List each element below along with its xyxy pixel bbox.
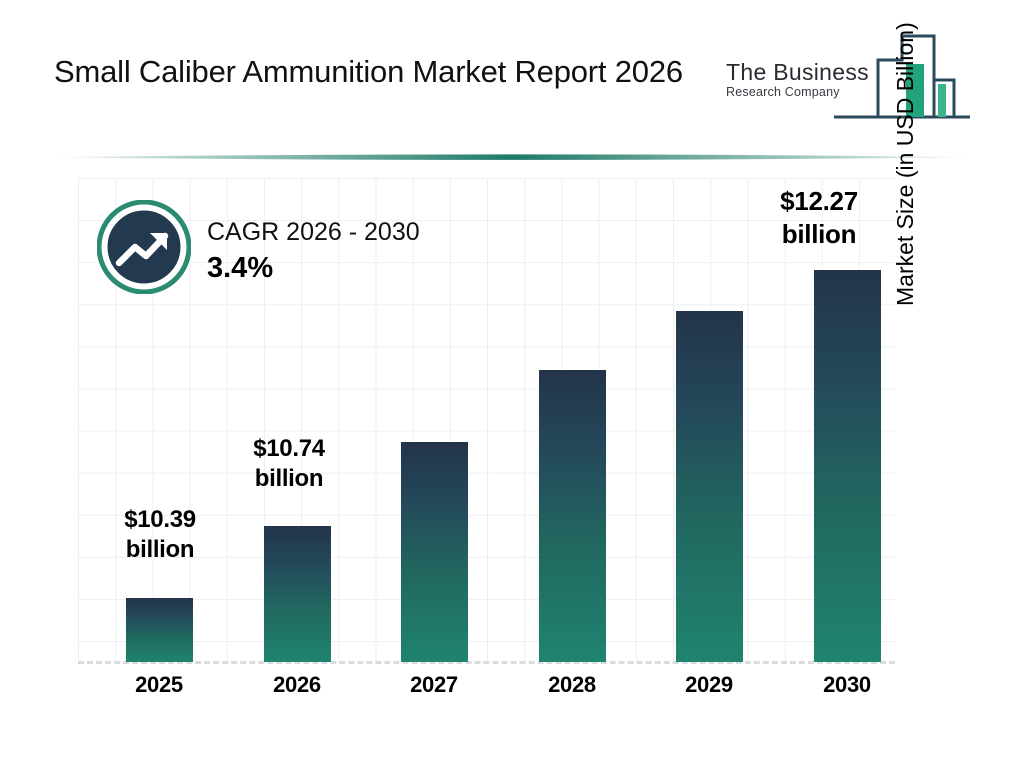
value-label-2030: $12.27 billion xyxy=(754,185,884,251)
x-tick-2030: 2030 xyxy=(787,672,907,698)
x-tick-2025: 2025 xyxy=(99,672,219,698)
cagr-badge: CAGR 2026 - 2030 3.4% xyxy=(97,200,497,305)
chart-page: Small Caliber Ammunition Market Report 2… xyxy=(0,0,1024,768)
x-tick-2029: 2029 xyxy=(649,672,769,698)
cagr-value: 3.4% xyxy=(207,248,420,288)
bar-2027[interactable] xyxy=(401,442,468,662)
value-label-2030-amount: $12.27 xyxy=(754,185,884,218)
header-divider xyxy=(44,150,980,164)
bar-2025[interactable] xyxy=(126,598,193,662)
x-tick-2028: 2028 xyxy=(512,672,632,698)
page-title: Small Caliber Ammunition Market Report 2… xyxy=(54,50,714,94)
x-tick-2027: 2027 xyxy=(374,672,494,698)
bar-2026[interactable] xyxy=(264,526,331,662)
value-label-2025-amount: $10.39 xyxy=(95,505,225,535)
value-label-2025-unit: billion xyxy=(95,535,225,565)
bar-2030[interactable] xyxy=(814,270,881,662)
y-axis-title: Market Size (in USD Billion) xyxy=(892,0,932,306)
bar-2029[interactable] xyxy=(676,311,743,662)
cagr-period-label: CAGR 2026 - 2030 xyxy=(207,216,420,248)
value-label-2026: $10.74 billion xyxy=(224,434,354,494)
bar-2028[interactable] xyxy=(539,370,606,662)
x-axis: 2025 2026 2027 2028 2029 2030 xyxy=(78,672,895,712)
header: Small Caliber Ammunition Market Report 2… xyxy=(0,0,1024,150)
cagr-text-block: CAGR 2026 - 2030 3.4% xyxy=(207,216,420,288)
value-label-2030-unit: billion xyxy=(754,218,884,251)
trending-up-arrow-icon xyxy=(97,200,191,294)
company-logo: The Business Research Company xyxy=(726,34,974,126)
value-label-2026-unit: billion xyxy=(224,464,354,494)
value-label-2025: $10.39 billion xyxy=(95,505,225,565)
x-tick-2026: 2026 xyxy=(237,672,357,698)
value-label-2026-amount: $10.74 xyxy=(224,434,354,464)
